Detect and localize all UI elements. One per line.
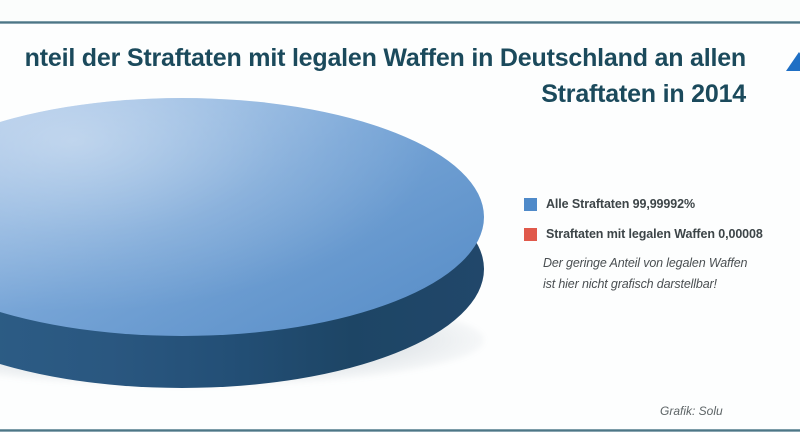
legend-item-legale-waffen[interactable]: Straftaten mit legalen Waffen 0,00008 [524,226,800,242]
page-margin-bottom [0,431,800,445]
graphic-credit: Grafik: Solu [660,404,800,418]
chart-annotation: Der geringe Anteil von legalen Waffen is… [543,253,800,295]
divider-rule-bottom [0,429,800,432]
chart-legend: Alle Straftaten 99,99992% Straftaten mit… [524,196,800,256]
divider-rule-top [0,21,800,24]
legend-swatch-blue-icon [524,198,537,211]
pie-chart [0,98,490,394]
legend-label-alle-straftaten: Alle Straftaten 99,99992% [546,196,695,212]
clipped-glyph-icon [786,48,800,74]
legend-item-alle-straftaten[interactable]: Alle Straftaten 99,99992% [524,196,800,212]
legend-label-legale-waffen: Straftaten mit legalen Waffen 0,00008 [546,226,763,242]
legend-swatch-red-icon [524,228,537,241]
chart-screenshot: nteil der Straftaten mit legalen Waffen … [0,0,800,445]
page-margin-top [0,0,800,21]
